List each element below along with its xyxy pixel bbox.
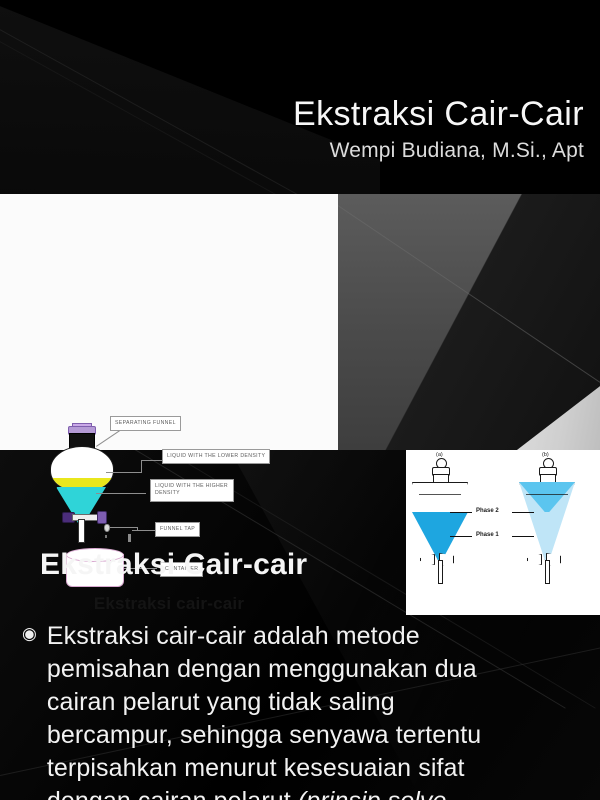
leader-line-funnel-tap-c — [132, 530, 156, 531]
slide-subtitle: Wempi Budiana, M.Si., Apt — [0, 139, 584, 163]
funnel-b-body-icon — [519, 482, 575, 560]
funnel-b-meniscus — [526, 494, 568, 495]
funnel-tap-bar-icon — [72, 514, 100, 521]
slide-title: Ekstraksi Cair-Cair — [0, 96, 584, 133]
funnel-tap-right-icon — [97, 511, 107, 524]
funnel-droplet-icon — [104, 524, 110, 532]
leader-line-lower-density-c — [141, 460, 163, 461]
slide-deck-image: Ekstraksi Cair-Cair Wempi Budiana, M.Si.… — [0, 0, 600, 800]
label-funnel-tap: FUNNEL TAP — [155, 522, 200, 537]
leader-line-lower-density-b — [141, 460, 142, 473]
funnel-a-body-icon — [412, 482, 468, 560]
funnel-a-arrow-phase1 — [450, 536, 472, 537]
leader-line-funnel-tap-a — [109, 527, 137, 528]
bullet-body-italic: (prinsip solve — [298, 787, 447, 800]
title-block: Ekstraksi Cair-Cair Wempi Budiana, M.Si.… — [0, 96, 584, 163]
funnel-outlet-tip-icon — [78, 519, 85, 543]
bullet-glyph-icon: ◉ — [22, 620, 37, 800]
label-phase-1: Phase 1 — [476, 532, 499, 538]
funnel-b-stem-icon — [545, 560, 550, 584]
funnel-droplet-small-icon — [105, 535, 107, 538]
label-separating-funnel: SEPARATING FUNNEL — [110, 416, 181, 431]
funnel-droplet-stream-icon — [128, 534, 131, 542]
funnel-a-meniscus — [419, 494, 461, 495]
separating-funnel-figure: SEPARATING FUNNEL LIQUID WITH THE LOWER … — [0, 194, 338, 450]
label-higher-density: LIQUID WITH THE HIGHER DENSITY — [150, 479, 234, 502]
funnel-bulb-icon — [50, 446, 114, 492]
funnel-a-arrow-phase2 — [450, 512, 472, 513]
leader-line-lower-density-a — [106, 472, 142, 473]
bullet-item: ◉ Ekstraksi cair-cair adalah metodepemis… — [22, 620, 578, 800]
phase-separation-figure: (a) (b) — [406, 450, 600, 615]
bullet-body-text: Ekstraksi cair-cair adalah metodepemisah… — [47, 620, 481, 800]
funnel-b-arrow-phase1 — [512, 536, 534, 537]
figure-caption: Ekstraksi cair-cair — [0, 594, 338, 614]
leader-line-higher-density — [96, 493, 146, 494]
funnel-b-arrow-phase2 — [512, 512, 534, 513]
section-heading: Ekstraksi Cair-cair — [40, 548, 307, 582]
label-phase-2: Phase 2 — [476, 508, 499, 514]
funnel-a-stem-icon — [438, 560, 443, 584]
bullet-body-plain: Ekstraksi cair-cair adalah metodepemisah… — [47, 622, 481, 800]
label-lower-density: LIQUID WITH THE LOWER DENSITY — [162, 449, 270, 464]
